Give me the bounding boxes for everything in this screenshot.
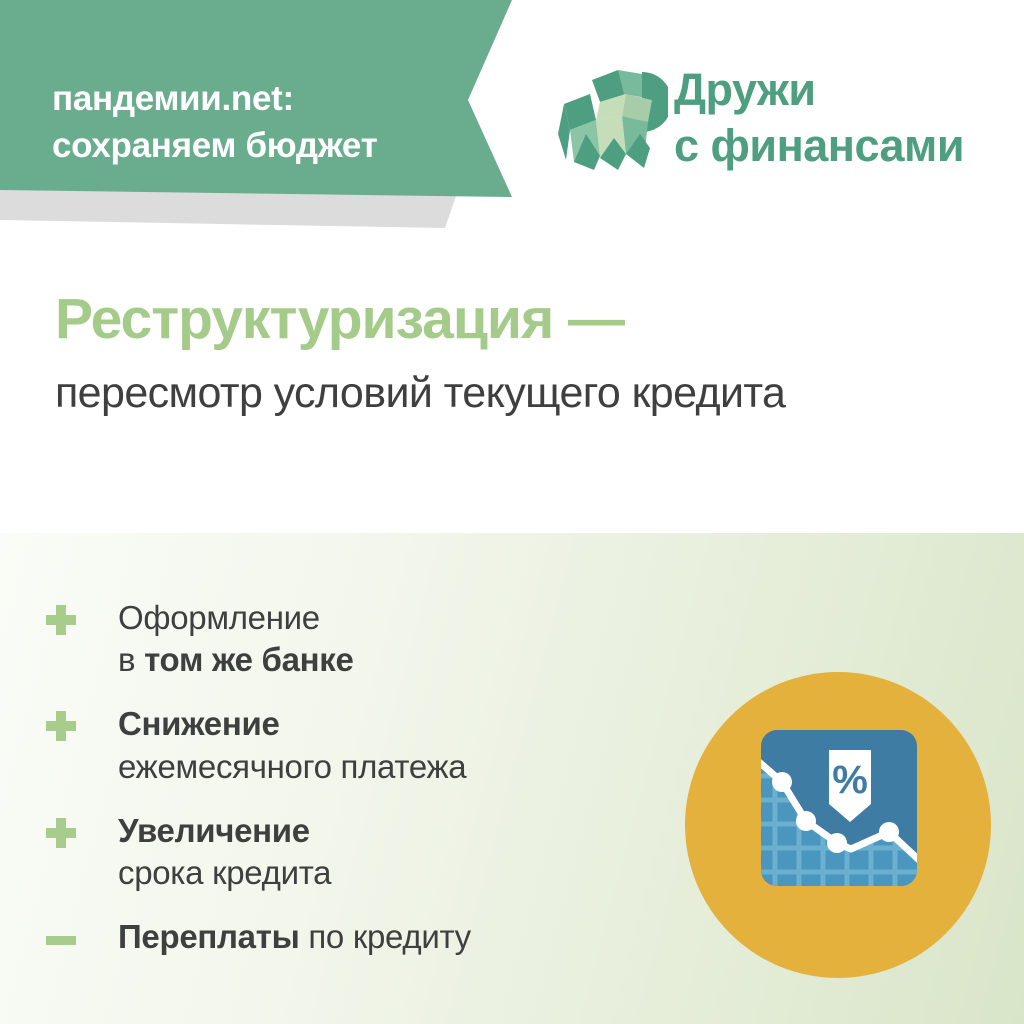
list-item: Переплаты по кредиту [46, 916, 646, 964]
plus-icon-horizontal-bar [46, 828, 76, 838]
list-item-line-2: в том же банке [118, 639, 354, 681]
chart-data-point [796, 811, 816, 831]
benefits-panel: Оформление в том же банке Снижение ежеме… [0, 533, 1024, 1024]
chart-card: % [759, 730, 919, 886]
list-item-text: Снижение ежемесячного платежа [118, 703, 466, 787]
logo-line-2: с финансами [674, 118, 964, 174]
list-item: Оформление в том же банке [46, 597, 646, 681]
minus-icon [46, 924, 76, 964]
plus-icon [46, 605, 76, 645]
list-item-line-2-bold: том же банке [144, 641, 353, 678]
page-subtitle: пересмотр условий текущего кредита [55, 369, 995, 418]
list-item-line-2: срока кредита [118, 852, 331, 894]
list-item: Увеличение срока кредита [46, 810, 646, 894]
infographic-poster: пандемии.net: сохраняем бюджет Д [0, 0, 1024, 1024]
plus-icon-horizontal-bar [46, 721, 76, 731]
chart-data-point [827, 833, 847, 853]
origami-dog-logo-icon [556, 64, 668, 176]
declining-interest-rate-chart-icon: % [685, 672, 991, 978]
list-item-line-1-suffix: по кредиту [299, 918, 470, 955]
plus-icon-horizontal-bar [46, 615, 76, 625]
header-ribbon: пандемии.net: сохраняем бюджет [0, 0, 560, 240]
logo-text: Дружи с финансами [674, 62, 964, 175]
list-item-line-1: Оформление [118, 597, 354, 639]
minus-icon-bar [46, 936, 76, 945]
list-item-line-1: Снижение [118, 703, 466, 745]
list-item-line-1-bold: Снижение [118, 705, 280, 742]
title-block: Реструктуризация — пересмотр условий тек… [55, 288, 995, 418]
ribbon-line-2: сохраняем бюджет [52, 123, 472, 170]
list-item-line-1-bold: Увеличение [118, 812, 310, 849]
logo-line-1: Дружи [674, 62, 964, 118]
list-item-line-1: Переплаты по кредиту [118, 916, 471, 958]
ribbon-text: пандемии.net: сохраняем бюджет [52, 76, 472, 169]
plus-icon [46, 818, 76, 858]
list-item-line-1-bold: Переплаты [118, 918, 299, 955]
list-item-text: Переплаты по кредиту [118, 916, 471, 958]
chart-data-point [772, 772, 792, 792]
ribbon-line-1: пандемии.net: [52, 76, 472, 123]
plus-icon [46, 711, 76, 751]
list-item-line-2-prefix: в [118, 641, 144, 678]
benefits-list: Оформление в том же банке Снижение ежеме… [46, 597, 646, 982]
list-item-line-2: ежемесячного платежа [118, 746, 466, 788]
list-item-text: Оформление в том же банке [118, 597, 354, 681]
chart-icon-svg: % [685, 672, 991, 978]
chart-data-point [879, 822, 899, 842]
brand-logo[interactable]: Дружи с финансами [556, 62, 996, 184]
list-item: Снижение ежемесячного платежа [46, 703, 646, 787]
page-title: Реструктуризация — [55, 288, 995, 351]
list-item-text: Увеличение срока кредита [118, 810, 331, 894]
list-item-line-1: Увеличение [118, 810, 331, 852]
percent-symbol: % [832, 758, 868, 802]
